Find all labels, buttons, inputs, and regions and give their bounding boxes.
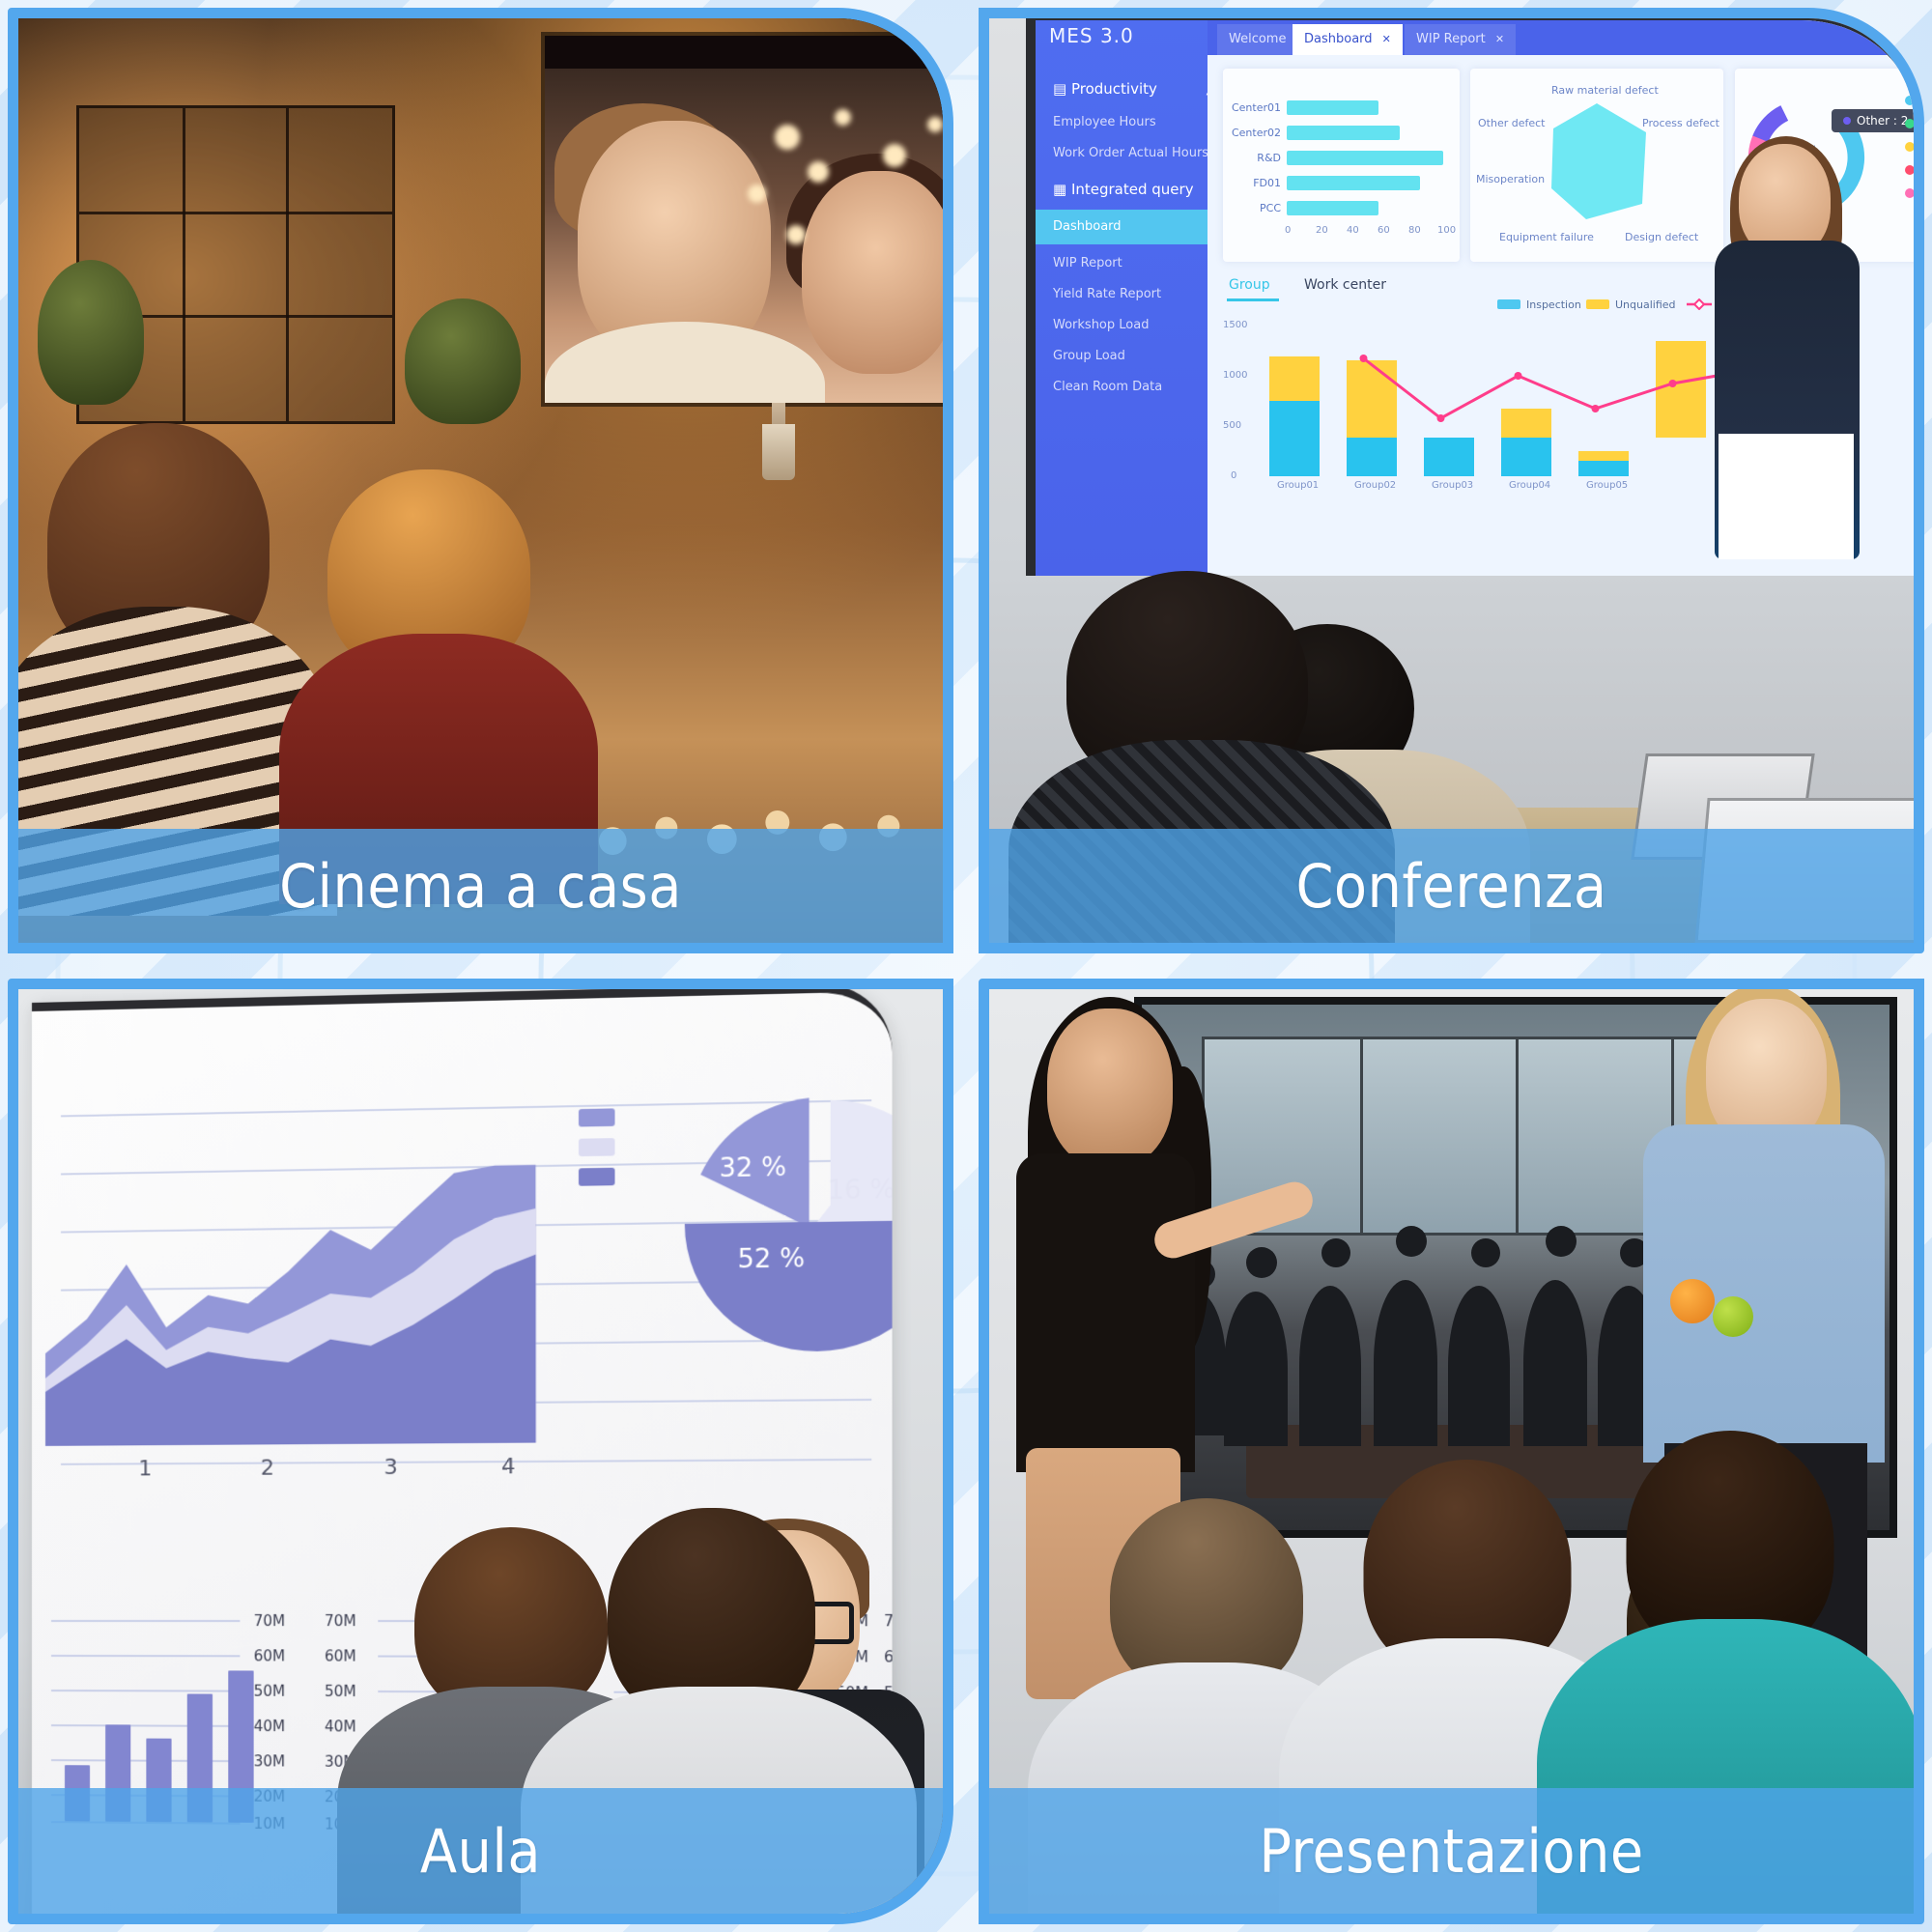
donut-legend-dot-0 <box>1905 96 1915 105</box>
hbar-tick-3: 60 <box>1378 225 1390 236</box>
donut-legend-dot-1 <box>1905 119 1915 128</box>
hbar-2 <box>1287 151 1443 165</box>
movie-woman-face <box>802 171 953 374</box>
pie-svg <box>665 1090 893 1353</box>
hbar-tick-4: 80 <box>1408 225 1421 236</box>
bar1-ytick-3: 40M <box>254 1718 286 1735</box>
sidebar-item-yield-rate-report[interactable]: Yield Rate Report <box>1053 287 1161 301</box>
sidebar-item-wip-report[interactable]: WIP Report <box>1053 256 1122 270</box>
close-icon-dashboard-tab[interactable]: ✕ <box>1382 33 1391 45</box>
bar2-ytick-5: 60M <box>325 1647 356 1664</box>
donut-legend-dot-2 <box>1905 142 1915 152</box>
sidebar-item-employee-hours[interactable]: Employee Hours <box>1053 115 1156 129</box>
classroom-pie-chart: 32 % 16 % 52 % <box>665 1090 893 1353</box>
bar1-ytick-6: 70M <box>254 1612 286 1630</box>
hbar-tick-5: 100 <box>1437 225 1456 236</box>
hbar-1 <box>1287 126 1400 140</box>
radar-label-design-defect: Design defect <box>1625 231 1698 243</box>
mes-app-title: MES 3.0 <box>1049 24 1134 47</box>
panel-caption-presentation: Presentazione <box>989 1788 1914 1914</box>
combo-cat-4: Group05 <box>1586 480 1628 491</box>
caption-text-presentation: Presentazione <box>1259 1816 1643 1887</box>
area-legend-swatch-2 <box>579 1168 615 1186</box>
area-xtick-2: 2 <box>261 1456 274 1480</box>
panel-home-cinema[interactable]: Cinema a casa <box>8 8 953 953</box>
hbar-0 <box>1287 100 1378 115</box>
hbar-cat-4: PCC <box>1225 202 1281 214</box>
hbar-cat-2: R&D <box>1225 152 1281 164</box>
home-cinema-photo <box>18 18 943 943</box>
movie-still <box>545 69 953 403</box>
bar1-ytick-5: 60M <box>254 1647 286 1664</box>
hbar-tick-0: 0 <box>1285 225 1291 236</box>
houseplant-right <box>405 298 521 424</box>
radar-label-equipment-failure: Equipment failure <box>1499 231 1594 243</box>
presentation-photo <box>989 989 1914 1914</box>
caption-text-classroom: Aula <box>420 1816 541 1887</box>
bar1-ytick-2: 30M <box>254 1752 286 1770</box>
bar2-ytick-4: 50M <box>325 1683 356 1700</box>
radar-label-misoperation: Misoperation <box>1476 173 1545 185</box>
projection-screen <box>545 36 953 403</box>
close-icon-wip-tab[interactable]: ✕ <box>1495 33 1504 45</box>
area-legend-swatch-0 <box>579 1108 615 1126</box>
legend-label-inspection: Inspection <box>1526 298 1581 311</box>
combo-cat-2: Group03 <box>1432 480 1473 491</box>
mes-sidebar: MES 3.0 ▤ Productivity ▲ Employee Hours … <box>1036 20 1207 576</box>
radar-label-process-defect: Process defect <box>1642 117 1719 129</box>
conference-photo: MES 3.0 ▤ Productivity ▲ Employee Hours … <box>989 18 1914 943</box>
pie-label-16: 16 % <box>828 1175 893 1206</box>
houseplant-left <box>38 260 144 405</box>
mes-tabbar: Welcome Dashboard ✕ WIP Report ✕ <box>1207 20 1918 55</box>
integrated-query-icon: ▦ <box>1053 181 1071 198</box>
area-xtick-4: 4 <box>501 1455 516 1480</box>
donut-legend-dot-4 <box>1905 188 1915 198</box>
area-xtick-3: 3 <box>384 1456 397 1480</box>
panel-conference[interactable]: MES 3.0 ▤ Productivity ▲ Employee Hours … <box>979 8 1924 953</box>
sidebar-item-work-order-actual-hours[interactable]: Work Order Actual Hours <box>1053 146 1208 160</box>
sidebar-group-productivity[interactable]: ▤ Productivity ▲ <box>1053 80 1214 98</box>
classroom-photo: 1 2 3 4 32 % <box>18 989 943 1914</box>
sidebar-item-clean-room-data[interactable]: Clean Room Data <box>1053 380 1162 394</box>
panel-caption-conference: Conferenza <box>989 829 1914 943</box>
section-tab-group[interactable]: Group <box>1229 277 1270 293</box>
panel-classroom[interactable]: 1 2 3 4 32 % <box>8 979 953 1924</box>
green-fruit <box>1713 1296 1753 1337</box>
panel-caption-classroom: Aula <box>18 1788 943 1914</box>
pie-label-32: 32 % <box>720 1152 787 1183</box>
panel-presentation[interactable]: Presentazione <box>979 979 1924 1924</box>
legend-swatch-inspection <box>1497 299 1520 309</box>
combo-cat-0: Group01 <box>1277 480 1319 491</box>
conference-presenter <box>1691 144 1875 588</box>
section-tab-work-center[interactable]: Work center <box>1304 277 1386 293</box>
panel-caption-home-cinema: Cinema a casa <box>18 829 943 943</box>
caption-text-home-cinema: Cinema a casa <box>279 851 682 922</box>
card-radar-chart: Raw material defect Process defect Desig… <box>1470 69 1723 262</box>
bar1-ytick-4: 50M <box>254 1683 286 1700</box>
sidebar-item-workshop-load[interactable]: Workshop Load <box>1053 318 1149 332</box>
tab-wip-report[interactable]: WIP Report ✕ <box>1405 24 1516 55</box>
hbar-3 <box>1287 176 1420 190</box>
combo-cat-1: Group02 <box>1354 480 1396 491</box>
legend-swatch-unqualified <box>1586 299 1609 309</box>
hbar-cat-1: Center02 <box>1225 127 1281 139</box>
hbar-4 <box>1287 201 1378 215</box>
area-xtick-1: 1 <box>138 1457 152 1481</box>
hbar-tick-2: 40 <box>1347 225 1359 236</box>
tooltip-dot-icon <box>1843 117 1851 125</box>
legend-label-unqualified: Unqualified <box>1615 298 1676 311</box>
tab-dashboard[interactable]: Dashboard ✕ <box>1293 24 1403 55</box>
section-tab-underline <box>1227 298 1279 301</box>
pie-label-52: 52 % <box>737 1244 805 1275</box>
screen-pull-tassel <box>762 424 795 480</box>
classroom-area-chart <box>45 1097 582 1446</box>
bar2-ytick-6: 70M <box>325 1612 356 1630</box>
sidebar-item-dashboard[interactable]: Dashboard <box>1053 219 1122 234</box>
hbar-cat-0: Center01 <box>1225 101 1281 114</box>
hbar-tick-1: 20 <box>1316 225 1328 236</box>
card-horizontal-bar-chart: Center01 Center02 R&D FD01 PCC 0 20 40 <box>1223 69 1460 262</box>
bar2-ytick-3: 40M <box>325 1718 356 1735</box>
radar-label-other-defect: Other defect <box>1478 117 1545 129</box>
orange-fruit <box>1670 1279 1715 1323</box>
productivity-icon: ▤ <box>1053 80 1071 98</box>
area-legend-swatch-1 <box>579 1138 615 1156</box>
donut-legend-dot-3 <box>1905 165 1915 175</box>
radar-label-raw-material-defect: Raw material defect <box>1551 84 1659 97</box>
sidebar-group-integrated-query[interactable]: ▦ Integrated query ▲ <box>1053 181 1234 198</box>
movie-man-shirt <box>545 322 825 403</box>
combo-cat-3: Group04 <box>1509 480 1550 491</box>
sidebar-item-group-load[interactable]: Group Load <box>1053 349 1125 363</box>
panel-grid: Cinema a casa MES 3.0 ▤ Productivity ▲ E… <box>0 0 1932 1932</box>
tab-welcome[interactable]: Welcome <box>1217 24 1297 55</box>
viewer-boy <box>298 469 569 817</box>
hbar-cat-3: FD01 <box>1225 177 1281 189</box>
caption-text-conference: Conferenza <box>1295 851 1606 922</box>
